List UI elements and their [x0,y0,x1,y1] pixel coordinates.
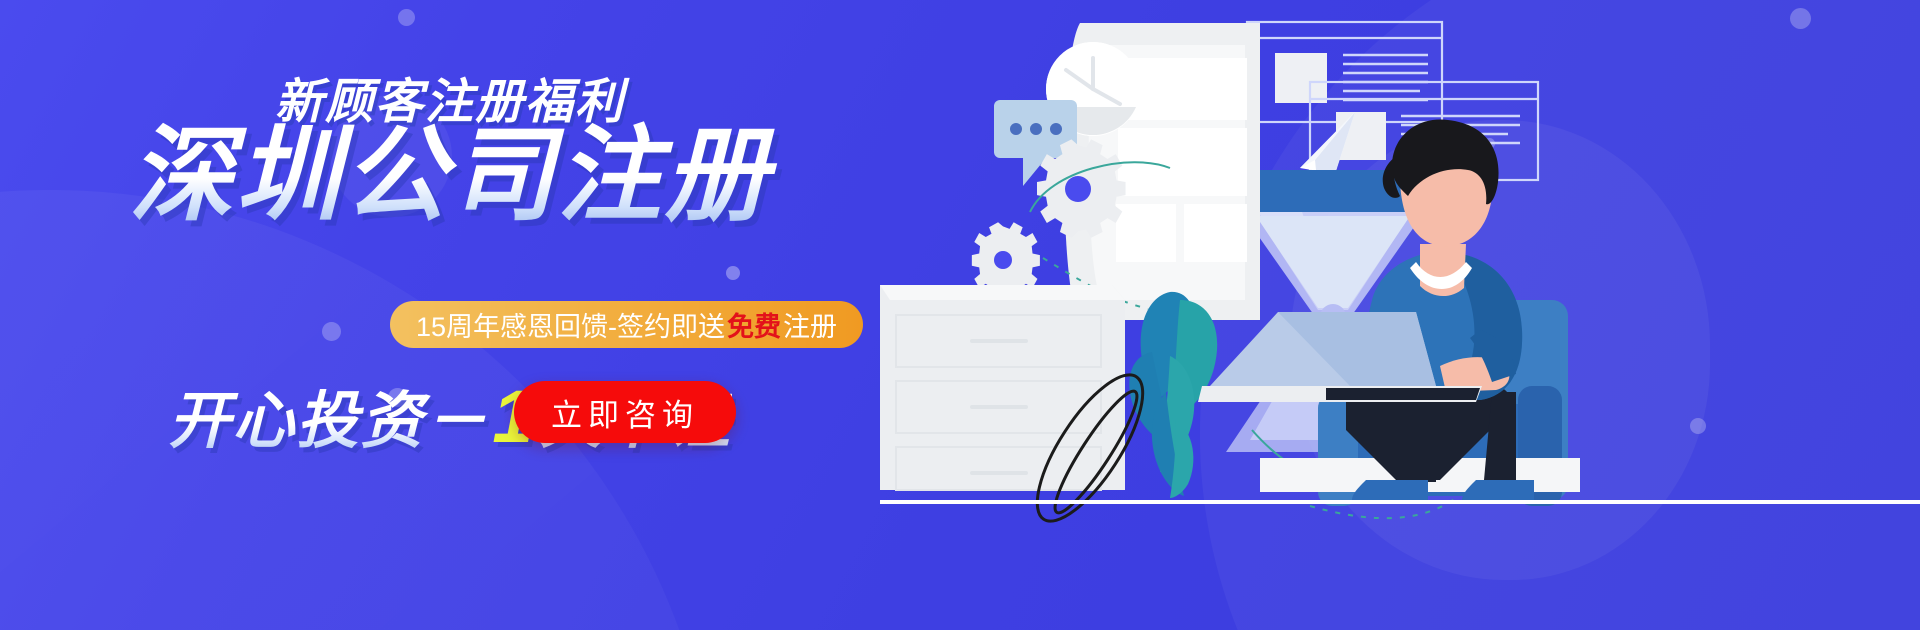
document-lines [1343,55,1428,100]
promo-highlight: 免费 [725,305,783,344]
hero-illustration [880,0,1920,630]
floor-line [880,500,1920,504]
shoe [1352,480,1428,500]
page-title: 深圳公司注册 [0,120,900,232]
slogan-text: 开心投资－1天下证 [0,370,900,460]
consult-now-button[interactable]: 立即咨询 [514,381,736,443]
promo-suffix: 注册 [783,305,837,344]
slogan-part-1: 开心投资－ [168,387,488,456]
copy-block: 新顾客注册福利 深圳公司注册 15周年感恩回馈-签约即送免费注册 开心投资－1天… [0,0,960,630]
promo-banner: 新顾客注册福利 深圳公司注册 15周年感恩回馈-签约即送免费注册 开心投资－1天… [0,0,1920,630]
document-thumb [1275,53,1327,103]
promo-prefix: 15周年感恩回馈-签约即送 [416,305,725,344]
promo-pill: 15周年感恩回馈-签约即送免费注册 [390,301,863,348]
